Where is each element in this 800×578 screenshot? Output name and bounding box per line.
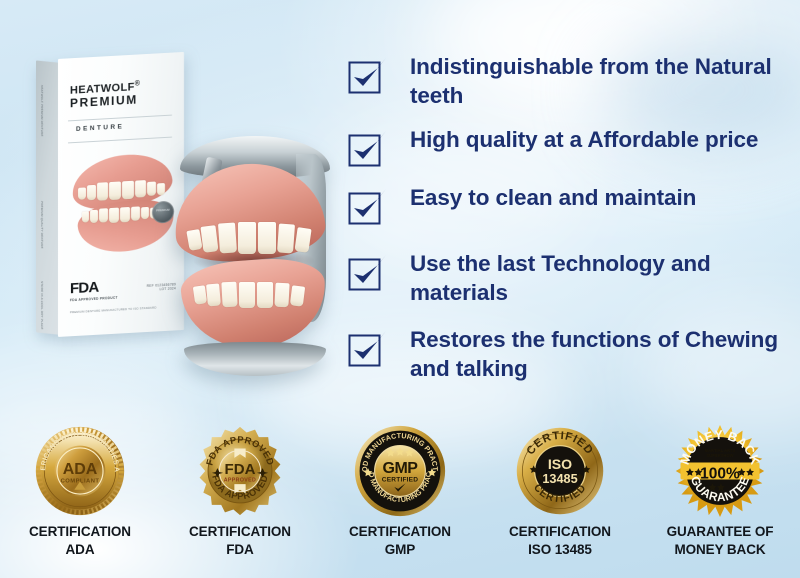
denture-upper-tooth-row [188,222,318,256]
badge-caption-line1: CERTIFICATION [509,523,611,541]
denture-tooth-row [78,179,170,204]
svg-text:SUPERSHOW: SUPERSHOW [706,453,733,458]
box-footnote: PREMIUM DENTURE MANUFACTURED TO ISO STAN… [70,305,157,314]
badge-caption-line2: ADA [29,541,131,559]
ada-badge-seal: AMERICANS WITH DISABILITIES ACT ADA COMP… [33,424,127,518]
benefit-item: High quality at a Affordable price [348,125,788,169]
benefit-item: Indistinguishable from the Natural teeth [348,52,788,111]
badge-caption-line1: CERTIFICATION [29,523,131,541]
benefit-text: Easy to clean and maintain [410,183,696,212]
registered-mark-icon: ® [135,80,141,87]
articulator-base-plate [184,342,326,376]
box-side-text-1: HEATWOLF PREMIUM DENTURE [40,85,44,145]
badge-money-back: MONEY BACK GUARANTEE MARTIAL ARTS SUPERS… [640,424,800,578]
svg-text:100%: 100% [700,466,740,483]
svg-text:APPROVED: APPROVED [224,477,256,483]
gmp-badge-seal: GOOD MANUFACTURING PRACTICE GOOD MANUFAC… [353,424,447,518]
badge-caption-line2: MONEY BACK [667,541,774,559]
svg-text:13485: 13485 [542,472,577,486]
box-fda-mark: FDA [70,278,118,298]
badge-iso: CERTIFIED CERTIFIED ISO 13485 [480,424,640,578]
product-brand: HEATWOLF® PREMIUM [70,80,140,111]
svg-text:GMP: GMP [383,460,419,477]
benefit-item: Use the last Technology and materials [348,249,788,308]
benefit-text: Indistinguishable from the Natural teeth [410,52,788,111]
svg-text:FDA: FDA [225,461,256,478]
badge-caption: GUARANTEE OF MONEY BACK [667,523,774,558]
iso-badge-seal: CERTIFIED CERTIFIED ISO 13485 [513,424,607,518]
badge-caption-line1: GUARANTEE OF [667,523,774,541]
badge-caption-line2: GMP [349,541,451,559]
divider [68,137,172,144]
badge-ada: AMERICANS WITH DISABILITIES ACT ADA COMP… [0,424,160,578]
product-box: HEATWOLF PREMIUM DENTURE PREMIUM QUALITY… [36,52,186,338]
benefit-text: Restores the functions of Chewing and ta… [410,325,788,384]
svg-text:ADA: ADA [63,461,98,478]
badge-gmp: GOOD MANUFACTURING PRACTICE GOOD MANUFAC… [320,424,480,578]
checkbox-checked-icon [348,253,388,293]
benefit-text: Use the last Technology and materials [410,249,788,308]
product-image: HEATWOLF PREMIUM DENTURE PREMIUM QUALITY… [18,48,338,348]
product-box-side-panel: HEATWOLF PREMIUM DENTURE PREMIUM QUALITY… [36,60,60,334]
checkbox-checked-icon [348,187,388,227]
box-fda-logo: FDA FDA APPROVED PRODUCT [70,278,118,303]
product-brand-tier: PREMIUM [70,94,140,112]
badge-caption: CERTIFICATION ISO 13485 [509,523,611,558]
benefit-item: Restores the functions of Chewing and ta… [348,325,788,384]
checkbox-checked-icon [348,129,388,169]
box-side-text-2: PREMIUM QUALITY DENTURE [40,201,44,271]
divider [68,115,172,122]
product-box-front: HEATWOLF® PREMIUM DENTURE [58,52,184,337]
checkbox-checked-icon [348,329,388,369]
denture-lower-tooth-row [194,282,320,312]
svg-text:ISO: ISO [548,456,572,472]
badge-caption-line2: ISO 13485 [509,541,611,559]
badge-fda: FDA APPROVED FDA APPROVED FDA APPROVED C… [160,424,320,578]
benefit-text: High quality at a Affordable price [410,125,758,154]
svg-text:CERTIFIED: CERTIFIED [382,476,418,483]
box-side-text-3: STORE IN A COOL DRY PLACE [40,281,44,329]
badge-caption-line2: FDA [189,541,291,559]
fda-badge-seal: FDA APPROVED FDA APPROVED FDA APPROVED [193,424,287,518]
badge-caption: CERTIFICATION GMP [349,523,451,558]
certification-badges-row: AMERICANS WITH DISABILITIES ACT ADA COMP… [0,424,800,578]
benefit-item: Easy to clean and maintain [348,183,788,227]
badge-caption-line1: CERTIFICATION [349,523,451,541]
badge-caption-line1: CERTIFICATION [189,523,291,541]
denture-model [168,136,336,376]
badge-caption: CERTIFICATION ADA [29,523,131,558]
promo-poster: HEATWOLF PREMIUM DENTURE PREMIUM QUALITY… [0,0,800,578]
money-back-badge-seal: MONEY BACK GUARANTEE MARTIAL ARTS SUPERS… [673,424,767,518]
badge-caption: CERTIFICATION FDA [189,523,291,558]
product-subtitle: DENTURE [76,123,124,133]
checkbox-checked-icon [348,56,388,96]
benefits-list: Indistinguishable from the Natural teeth… [348,52,788,398]
